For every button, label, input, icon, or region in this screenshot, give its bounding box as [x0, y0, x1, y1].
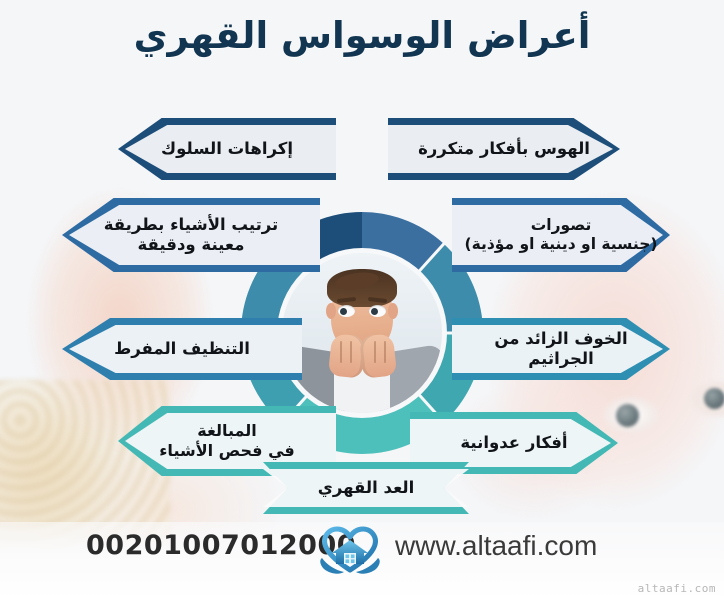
- background-eye-right-icon: [690, 380, 724, 418]
- symptom-label: تصورات (جنسية او دينية او مؤذية): [455, 216, 668, 254]
- symptom-label: المبالغة في فحص الأشياء: [149, 421, 305, 460]
- symptom-label: أفكار عدوانية: [450, 433, 577, 453]
- page-title: أعراض الوسواس القهري: [0, 14, 724, 57]
- symptom-label: إكراهات السلوك: [151, 139, 303, 159]
- symptom-label: الخوف الزائد من الجراثيم: [452, 329, 670, 369]
- symptom-banner-intrusive-images[interactable]: تصورات (جنسية او دينية او مؤذية): [452, 198, 670, 272]
- symptom-banner-excessive-cleaning[interactable]: التنظيف المفرط: [62, 318, 302, 380]
- website-url[interactable]: www.altaafi.com: [395, 530, 597, 562]
- symptom-label: الهوس بأفكار متكررة: [408, 139, 600, 159]
- center-portrait-photo: [282, 253, 442, 413]
- symptom-label: ترتيب الأشياء بطريقة معينة ودقيقة: [94, 215, 289, 255]
- watermark-label: altaafi.com: [638, 582, 716, 595]
- infographic-canvas: أعراض الوسواس القهري: [0, 0, 724, 600]
- symptom-banner-repetitive-obsessive-thoughts[interactable]: الهوس بأفكار متكررة: [388, 118, 620, 180]
- brand-logo-icon: [313, 520, 387, 584]
- symptom-banner-behavioral-compulsions[interactable]: إكراهات السلوك: [118, 118, 336, 180]
- symptom-banner-compulsive-counting[interactable]: العد القهري: [263, 462, 469, 514]
- symptom-label: التنظيف المفرط: [104, 339, 260, 359]
- symptom-banner-fear-of-germs[interactable]: الخوف الزائد من الجراثيم: [452, 318, 670, 380]
- symptom-banner-ordering-things[interactable]: ترتيب الأشياء بطريقة معينة ودقيقة: [62, 198, 320, 272]
- symptom-label: العد القهري: [308, 478, 424, 498]
